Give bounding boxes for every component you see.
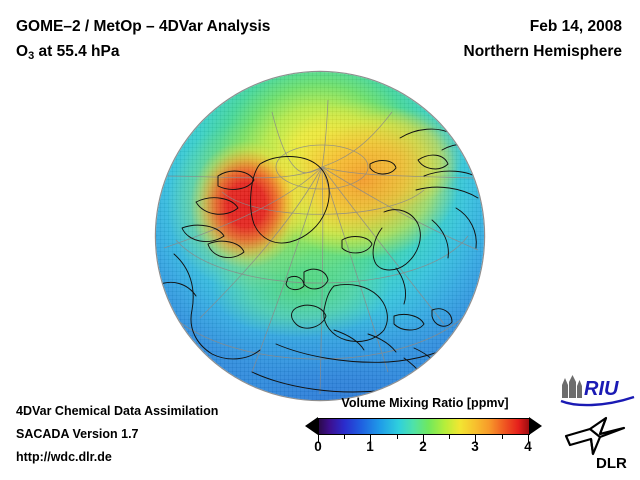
page-title: GOME–2 / MetOp – 4DVar Analysis [16,14,270,39]
riu-tower-icon [562,375,582,398]
footer-line-2: SACADA Version 1.7 [16,423,218,446]
riu-logo: RIU [558,374,636,408]
footer-text: 4DVar Chemical Data Assimilation SACADA … [16,400,218,469]
colorbar-row [300,415,550,437]
dlr-logo-text: DLR [596,455,627,470]
colorbar-gradient [318,418,530,435]
species-symbol: O [16,43,28,60]
dlr-mark-icon [566,418,624,454]
region-label: Northern Hemisphere [464,39,622,64]
header-right: Feb 14, 2008 Northern Hemisphere [464,14,622,64]
footer-line-1: 4DVar Chemical Data Assimilation [16,400,218,423]
date-label: Feb 14, 2008 [464,14,622,39]
globe-map [156,72,484,400]
colorbar-min-arrow-icon [305,417,318,435]
colorbar-title: Volume Mixing Ratio [ppmv] [300,396,550,410]
colorbar-tick-1: 1 [366,439,374,454]
figure-canvas: GOME–2 / MetOp – 4DVar Analysis O3 at 55… [0,0,640,480]
limb-shading [156,72,484,400]
colorbar-legend: Volume Mixing Ratio [ppmv] 0 1 2 3 4 [300,396,550,459]
colorbar-tick-3: 3 [471,439,479,454]
header-left: GOME–2 / MetOp – 4DVar Analysis O3 at 55… [16,14,270,69]
footer-line-3[interactable]: http://wdc.dlr.de [16,446,218,469]
riu-logo-text: RIU [584,378,619,400]
colorbar-tick-0: 0 [314,439,322,454]
globe-disc [156,72,484,400]
species-level-label: O3 at 55.4 hPa [16,39,270,69]
pressure-level: at 55.4 hPa [34,43,119,60]
colorbar-tick-2: 2 [419,439,427,454]
colorbar-tick-labels: 0 1 2 3 4 [300,439,550,459]
dlr-logo: DLR [560,414,632,470]
colorbar-max-arrow-icon [529,417,542,435]
colorbar-tick-4: 4 [524,439,532,454]
